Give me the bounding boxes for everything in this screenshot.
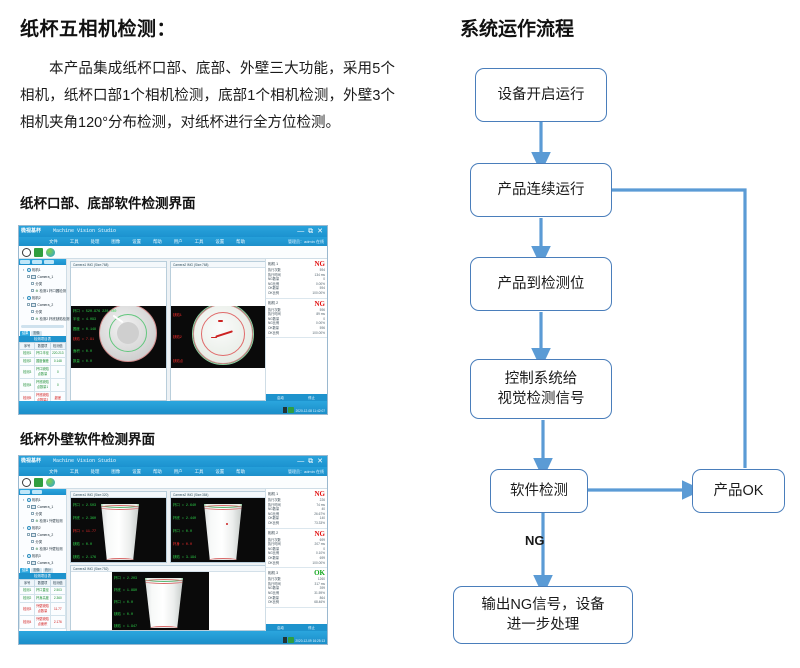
app-title: Machine Vision Studio <box>53 227 116 236</box>
tree-node: ▪相机2 <box>20 294 65 301</box>
image-viewer-camera1[interactable]: Camera1 IMG (Size:320) 杯口 = 2.503 杯底 = 2… <box>70 491 167 563</box>
flow-node-control-signal[interactable]: 控制系统给 视觉检测信号 <box>470 359 612 419</box>
node-icon <box>31 275 36 279</box>
tree-node: ⚙检测1 外壁检测 <box>20 517 65 524</box>
wrench-icon: ⚙ <box>35 547 38 551</box>
project-tree-panel[interactable]: ▪相机1 Camera_1 分类 ⚙检测1 杯口圆检测 ▪相机2 Camera_… <box>19 259 67 403</box>
flowchart: 系统运作流程 设备开启运行 产品连续运行 产品到检测位 <box>440 0 800 668</box>
status-badge: NG <box>315 260 326 268</box>
camera-icon <box>27 554 31 558</box>
menu-item[interactable]: 设置 <box>132 469 141 475</box>
tree-node: ⚙检测1 杯口圆检测 <box>20 287 65 294</box>
page-root: 纸杯五相机检测： 本产品集成纸杯口部、底部、外壁三大功能，采用5个相机，纸杯口部… <box>0 0 800 668</box>
menu-item[interactable]: 文件 <box>49 239 58 245</box>
checkbox[interactable] <box>31 289 34 292</box>
left-column: 纸杯五相机检测： 本产品集成纸杯口部、底部、外壁三大功能，采用5个相机，纸杯口部… <box>0 0 440 668</box>
project-tree-panel[interactable]: ▪相机1 Camera_1 分类 ⚙检测1 外壁检测 ▪相机2 Camera_2… <box>19 489 67 633</box>
results-panel: 相机 1 NG 执行次数226 执行时间74 ms NG数量40 NG比例26.… <box>265 489 327 633</box>
flow-node-product-ok[interactable]: 产品OK <box>692 469 785 513</box>
flow-node-label: 输出NG信号，设备 进一步处理 <box>481 595 604 635</box>
status-badge: NG <box>315 530 326 538</box>
menu-bar[interactable]: 文件 工具 处理 图像 设置 帮助 用户 工具 设置 帮助 管理员：admin … <box>19 467 327 476</box>
cup-bottom-circle <box>193 306 253 364</box>
status-badge: NG <box>315 490 326 498</box>
page-title: 纸杯五相机检测： <box>20 14 176 41</box>
camera2-image: 缺陷1 缺陷2 缺陷点 <box>171 306 266 368</box>
node-icon <box>31 561 36 565</box>
cup-side-view <box>98 504 142 560</box>
table-row: 检测4外壁缺陷点面积2.176 <box>20 616 66 629</box>
menu-item[interactable]: 处理 <box>91 469 100 475</box>
app-body: ▪相机1 Camera_1 分类 ⚙检测1 杯口圆检测 ▪相机2 Camera_… <box>19 259 327 403</box>
menu-item[interactable]: 工具 <box>195 469 204 475</box>
checkbox[interactable] <box>31 310 34 313</box>
flow-node-ng-output[interactable]: 输出NG信号，设备 进一步处理 <box>453 586 633 644</box>
menu-item[interactable]: 文件 <box>49 469 58 475</box>
checkbox[interactable] <box>27 303 30 306</box>
image-viewer-camera2[interactable]: Camera2 IMG (Size:768) 缺陷1 缺陷2 缺陷点 <box>170 261 267 401</box>
tree-node: ▪相机2 <box>20 524 65 531</box>
image-viewer-camera2[interactable]: Camera2 IMG (Size:384) 杯口 = 2.640 杯底 = 2… <box>170 491 267 563</box>
table-header-row: 序号 数据项 检测值 <box>20 343 66 350</box>
wrench-icon: ⚙ <box>35 519 38 523</box>
tree-node: 分类 <box>20 538 65 545</box>
camera2-image: 杯口 = 2.640 杯底 = 2.440 杯口 = 0.0 杯身 = 0.0 … <box>171 498 266 562</box>
edge-label-ng: NG <box>525 533 545 548</box>
menu-item[interactable]: 设置 <box>215 239 224 245</box>
camera-result-card: 相机 1 NG 执行次数594 执行时间134 ms NG数量0 NG比例0.0… <box>266 259 327 299</box>
status-badge: NG <box>315 300 326 308</box>
tree-node: Camera_2 <box>20 301 65 308</box>
window-controls[interactable]: — ⧉ ✕ <box>297 456 324 467</box>
node-icon <box>31 533 36 537</box>
cup-rim-circle <box>99 306 157 362</box>
tree-node: Camera_1 <box>20 503 65 510</box>
clock-icon[interactable] <box>22 248 31 257</box>
project-tree[interactable]: ▪相机1 Camera_1 分类 ⚙检测1 杯口圆检测 ▪相机2 Camera_… <box>19 265 66 323</box>
app-title: Machine Vision Studio <box>53 457 116 466</box>
status-bar: 2020-12-08 11:42:07 <box>19 401 327 414</box>
status-badge: OK <box>314 569 325 577</box>
tree-node: Camera_3 <box>20 559 65 566</box>
globe-icon[interactable] <box>46 478 55 487</box>
tree-node: Camera_1 <box>20 273 65 280</box>
window-controls[interactable]: — ⧉ ✕ <box>297 226 324 237</box>
tree-node: 分类 <box>20 510 65 517</box>
table-row: 检测2圆度偏差0.148 <box>20 358 66 366</box>
checkbox[interactable] <box>27 275 30 278</box>
app-logo: 微视基杯 <box>21 227 41 236</box>
tree-node: 分类 <box>20 280 65 287</box>
flow-node-continuous-run[interactable]: 产品连续运行 <box>470 163 612 217</box>
table-row: 检测4杯底缺陷点数量10 <box>20 379 66 392</box>
camera-result-card: 相机 3 OK 执行次数1260 执行时间317 ms NG数量399 NG比例… <box>266 568 327 608</box>
tree-node: ⚙检测2 外壁检测 <box>20 545 65 552</box>
menu-item[interactable]: 帮助 <box>153 239 162 245</box>
menu-item[interactable]: 图像 <box>111 239 120 245</box>
toolbar[interactable] <box>19 476 327 489</box>
camera-status-icon <box>288 407 294 413</box>
app-titlebar: 微视基杯 Machine Vision Studio — ⧉ ✕ <box>19 456 327 467</box>
globe-icon[interactable] <box>46 248 55 257</box>
table-row: 检测1杯口半径220.213 <box>20 350 66 358</box>
project-tree[interactable]: ▪相机1 Camera_1 分类 ⚙检测1 外壁检测 ▪相机2 Camera_2… <box>19 495 66 567</box>
horizontal-scrollbar[interactable] <box>21 325 64 328</box>
camera-icon <box>27 296 31 300</box>
status-timestamp: 2020-12-08 11:42:07 <box>296 409 325 413</box>
menu-item[interactable]: 处理 <box>91 239 100 245</box>
checkbox[interactable] <box>27 505 30 508</box>
wrench-icon: ⚙ <box>35 289 38 293</box>
user-info: 管理员：admin 在线 <box>288 239 324 245</box>
menu-item[interactable]: 帮助 <box>236 239 245 245</box>
user-info: 管理员：admin 在线 <box>288 469 324 475</box>
result-table: 序号 数据项 检测值 检测1杯口直径2.503 检测2杯身高度2.360 检测3… <box>19 579 66 629</box>
camera-result-card: 相机 2 NG 执行次数596 执行时间89 ms NG数量0 NG比例0.00… <box>266 299 327 339</box>
table-row: 检测3杯口缺陷点数量0 <box>20 366 66 379</box>
flowchart-title: 系统运作流程 <box>460 14 574 41</box>
tree-node: ⚙检测2 杯底缺陷检测 <box>20 315 65 322</box>
menu-item[interactable]: 帮助 <box>153 469 162 475</box>
software-screenshot-top-bottom: 微视基杯 Machine Vision Studio — ⧉ ✕ 文件 工具 处… <box>18 225 328 415</box>
node-icon <box>31 505 36 509</box>
camera-status-icon <box>288 637 294 643</box>
software-screenshot-outer-wall: 微视基杯 Machine Vision Studio — ⧉ ✕ 文件 工具 处… <box>18 455 328 645</box>
tree-node: ▪相机3 <box>20 552 65 559</box>
menu-item[interactable]: 图像 <box>111 469 120 475</box>
menu-item[interactable]: 用户 <box>174 469 183 475</box>
checkbox[interactable] <box>31 547 34 550</box>
camera-icon <box>27 498 31 502</box>
camera1-image: 杯口 = 520.976 220.780 半径 = 4.093 圆度 = 0.1… <box>71 306 166 368</box>
checkbox[interactable] <box>27 561 30 564</box>
caption-shot1: 纸杯口部、底部软件检测界面 <box>20 192 196 212</box>
tree-node: Camera_2 <box>20 531 65 538</box>
camera3-image: 杯口 = 2.203 杯底 = 1.890 杯口 = 0.0 缺陷 = 0.0 … <box>112 572 209 630</box>
menu-item[interactable]: 帮助 <box>236 469 245 475</box>
checkbox[interactable] <box>31 317 34 320</box>
node-icon <box>31 303 36 307</box>
tab-result[interactable]: 结果 <box>20 331 30 336</box>
device-icon <box>283 407 287 413</box>
checkbox[interactable] <box>31 519 34 522</box>
status-bar: 2020-12-09 16:25:13 <box>19 631 327 644</box>
table-row: 检测2杯身高度2.360 <box>20 595 66 603</box>
flow-node-label: 控制系统给 视觉检测信号 <box>498 369 585 409</box>
menu-item[interactable]: 工具 <box>195 239 204 245</box>
image-viewer-camera3[interactable]: Camera3 IMG (Size:752) 杯口 = 2.203 杯底 = 1… <box>70 565 267 631</box>
menu-item[interactable]: 设置 <box>132 239 141 245</box>
results-panel: 相机 1 NG 执行次数594 执行时间134 ms NG数量0 NG比例0.0… <box>265 259 327 403</box>
app-logo: 微视基杯 <box>21 457 41 466</box>
app-body: ▪相机1 Camera_1 分类 ⚙检测1 外壁检测 ▪相机2 Camera_2… <box>19 489 327 633</box>
menu-item[interactable]: 工具 <box>70 239 79 245</box>
table-header-row: 序号 数据项 检测值 <box>20 580 66 587</box>
tab-result[interactable]: 结果 <box>20 568 30 573</box>
flow-node-software-inspection[interactable]: 软件检测 <box>490 469 588 513</box>
menu-item[interactable]: 工具 <box>70 469 79 475</box>
camera-icon[interactable] <box>34 248 43 257</box>
clock-icon[interactable] <box>22 478 31 487</box>
menu-item[interactable]: 设置 <box>215 469 224 475</box>
app-titlebar: 微视基杯 Machine Vision Studio — ⧉ ✕ <box>19 226 327 237</box>
camera-icon[interactable] <box>34 478 43 487</box>
table-row: 检测1杯口直径2.503 <box>20 587 66 595</box>
table-row: 检测3外壁缺陷点数量11.77 <box>20 603 66 616</box>
caption-shot2: 纸杯外壁软件检测界面 <box>20 428 155 448</box>
cup-side-view <box>142 578 186 628</box>
image-viewer-camera1[interactable]: Camera1 IMG (Size:768) 杯口 = 520.976 220.… <box>70 261 167 401</box>
checkbox[interactable] <box>31 540 34 543</box>
camera-result-card: 相机 2 NG 执行次数699 执行时间207 ms NG数量0 NG比例0.1… <box>266 529 327 569</box>
device-icon <box>283 637 287 643</box>
tree-node: ▪相机1 <box>20 496 65 503</box>
cup-side-view <box>201 504 245 560</box>
flow-node-start[interactable]: 设备开启运行 <box>475 68 607 122</box>
tree-node: 分类 <box>20 308 65 315</box>
checkbox[interactable] <box>31 282 34 285</box>
checkbox[interactable] <box>31 512 34 515</box>
camera-result-card: 相机 1 NG 执行次数226 执行时间74 ms NG数量40 NG比例26.… <box>266 489 327 529</box>
flow-node-arrive-station[interactable]: 产品到检测位 <box>470 257 612 311</box>
camera-icon <box>27 268 31 272</box>
toolbar[interactable] <box>19 246 327 259</box>
camera-icon <box>27 526 31 530</box>
tree-node: ▪相机1 <box>20 266 65 273</box>
intro-paragraph: 本产品集成纸杯口部、底部、外壁三大功能，采用5个相机，纸杯口部1个相机检测，底部… <box>20 56 395 137</box>
wrench-icon: ⚙ <box>35 317 38 321</box>
checkbox[interactable] <box>27 533 30 536</box>
menu-item[interactable]: 用户 <box>174 239 183 245</box>
camera1-image: 杯口 = 2.503 杯底 = 2.360 杯口 = 11.77 缺陷 = 0.… <box>71 498 166 562</box>
status-timestamp: 2020-12-09 16:25:13 <box>295 639 325 643</box>
menu-bar[interactable]: 文件 工具 处理 图像 设置 帮助 用户 工具 设置 帮助 管理员：admin … <box>19 237 327 246</box>
